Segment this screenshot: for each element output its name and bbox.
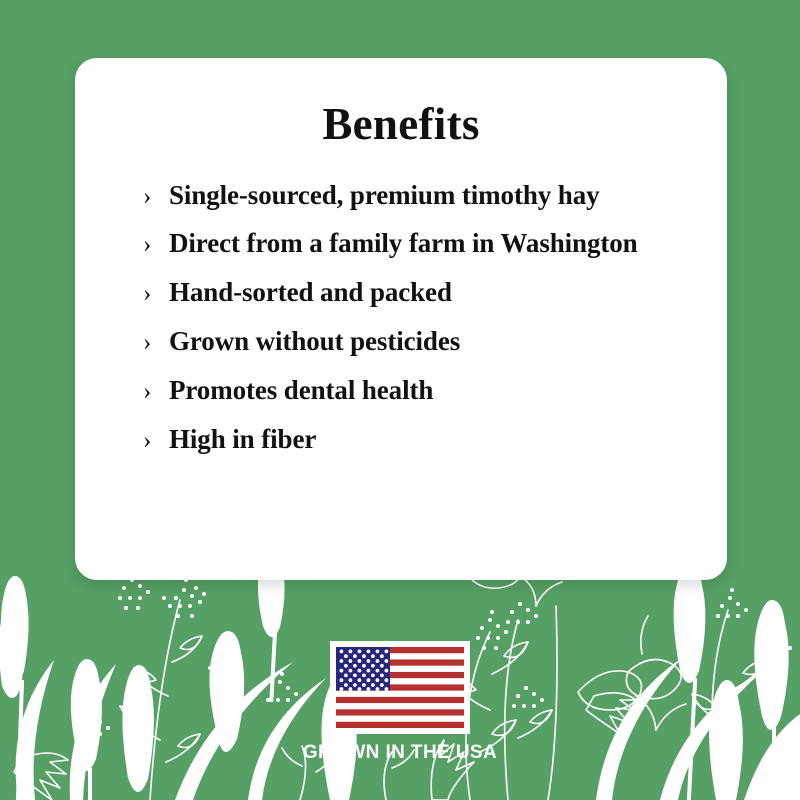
chevron-right-icon: › (143, 184, 169, 209)
benefit-label: Promotes dental health (169, 375, 433, 407)
grown-in-usa-caption: GROWN IN THE USA (303, 742, 497, 764)
list-item: › Promotes dental health (143, 375, 683, 407)
benefit-label: High in fiber (169, 424, 316, 456)
list-item: › Grown without pesticides (143, 326, 683, 358)
list-item: › Direct from a family farm in Washingto… (143, 228, 683, 260)
benefit-label: Grown without pesticides (169, 326, 460, 358)
benefit-label: Hand-sorted and packed (169, 277, 452, 309)
wildflower-umbel (506, 602, 538, 624)
list-item: › High in fiber (143, 424, 683, 456)
grown-in-usa-badge: GROWN IN THE USA (0, 641, 800, 764)
wildflower-umbel (716, 588, 748, 618)
chevron-right-icon: › (143, 428, 169, 453)
chevron-right-icon: › (143, 232, 169, 257)
benefit-label: Direct from a family farm in Washington (169, 228, 638, 260)
chevron-right-icon: › (143, 330, 169, 355)
chevron-right-icon: › (143, 281, 169, 306)
page-title: Benefits (119, 100, 683, 150)
list-item: › Single-sourced, premium timothy hay (143, 180, 683, 212)
wildflower-umbel (162, 578, 206, 618)
usa-flag-icon (330, 641, 470, 734)
benefits-list: › Single-sourced, premium timothy hay › … (143, 180, 683, 456)
list-item: › Hand-sorted and packed (143, 277, 683, 309)
benefits-card: Benefits › Single-sourced, premium timot… (75, 58, 727, 580)
benefit-label: Single-sourced, premium timothy hay (169, 180, 600, 212)
chevron-right-icon: › (143, 379, 169, 404)
